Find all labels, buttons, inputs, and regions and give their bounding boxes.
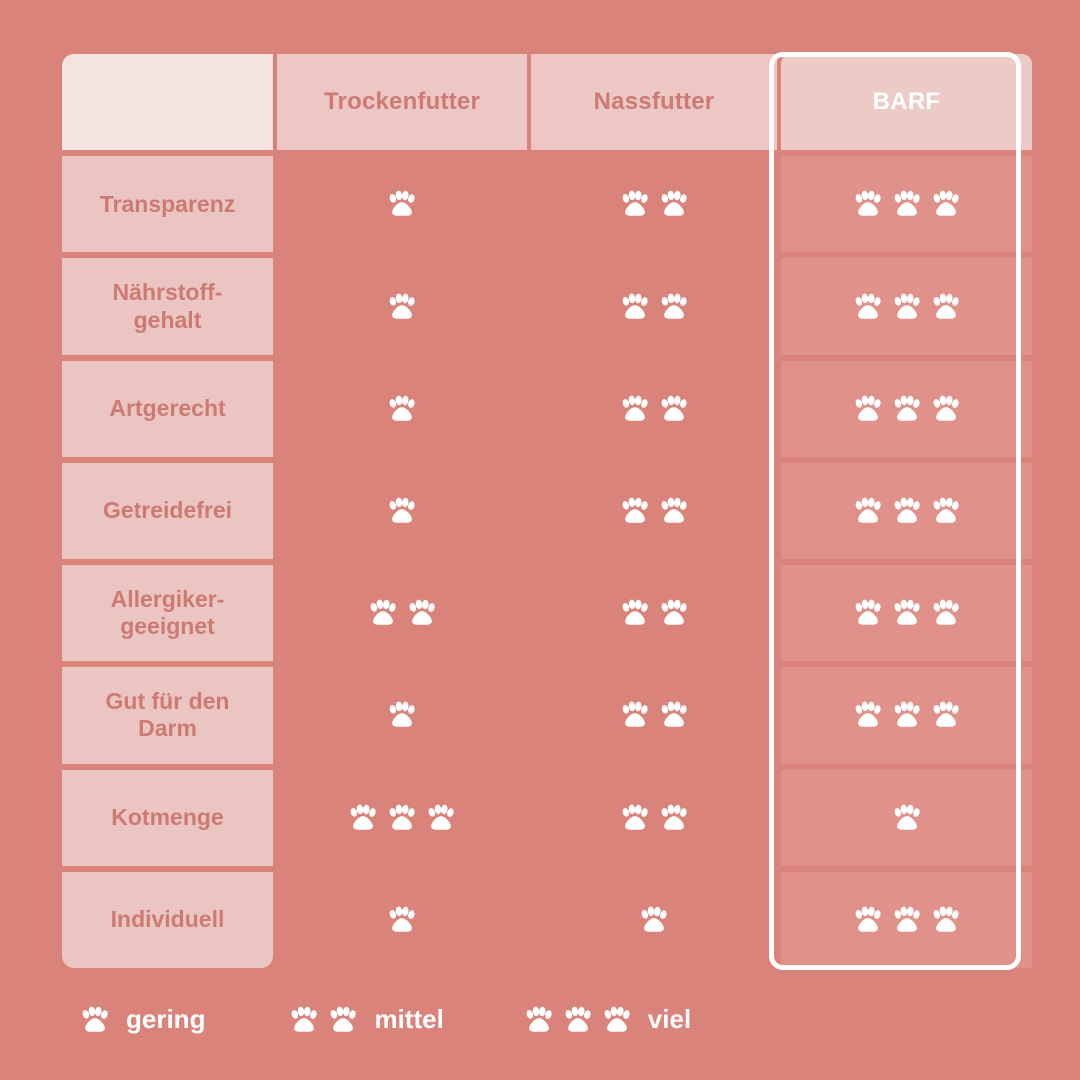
paw-icon xyxy=(931,700,961,730)
paw-icon xyxy=(892,292,922,322)
paw-icon xyxy=(80,1005,110,1035)
rating-cell xyxy=(531,565,777,661)
paw-icon xyxy=(620,292,650,322)
paw-rating-2 xyxy=(620,700,689,730)
rating-cell xyxy=(781,258,1032,354)
paw-icon xyxy=(853,598,883,628)
paw-icon xyxy=(387,496,417,526)
paw-icon xyxy=(853,496,883,526)
paw-icon xyxy=(659,292,689,322)
paw-icon xyxy=(563,1005,593,1035)
paw-icon xyxy=(368,598,398,628)
paw-icon xyxy=(659,394,689,424)
row-label-nährstoffgehalt: Nährstoff-gehalt xyxy=(62,258,273,354)
row-label-artgerecht: Artgerecht xyxy=(62,361,273,457)
paw-rating-1 xyxy=(892,803,922,833)
rating-cell xyxy=(277,565,527,661)
rating-cell xyxy=(781,463,1032,559)
legend: geringmittelviel xyxy=(80,1004,691,1035)
rating-cell xyxy=(277,258,527,354)
comparison-table: TrockenfutterNassfutterBARFTransparenzNä… xyxy=(62,54,1020,968)
paw-icon xyxy=(931,905,961,935)
paw-icon xyxy=(524,1005,554,1035)
paw-rating-1 xyxy=(387,496,417,526)
paw-rating-2 xyxy=(620,496,689,526)
paw-rating-mittel xyxy=(289,1005,358,1035)
paw-icon xyxy=(426,803,456,833)
row-label-transparenz: Transparenz xyxy=(62,156,273,252)
paw-icon xyxy=(620,394,650,424)
paw-rating-gering xyxy=(80,1005,110,1035)
paw-rating-3 xyxy=(348,803,456,833)
paw-icon xyxy=(348,803,378,833)
legend-label: mittel xyxy=(374,1004,443,1035)
row-label-allergikergeeignet: Allergiker-geeignet xyxy=(62,565,273,661)
paw-rating-3 xyxy=(853,189,961,219)
paw-icon xyxy=(659,803,689,833)
rating-cell xyxy=(781,872,1032,968)
comparison-infographic: TrockenfutterNassfutterBARFTransparenzNä… xyxy=(0,0,1080,1080)
rating-cell xyxy=(531,361,777,457)
paw-rating-1 xyxy=(387,905,417,935)
paw-icon xyxy=(387,292,417,322)
column-header-barf[interactable]: BARF xyxy=(781,54,1032,150)
paw-icon xyxy=(931,292,961,322)
paw-rating-3 xyxy=(853,496,961,526)
rating-cell xyxy=(277,872,527,968)
rating-cell xyxy=(531,872,777,968)
rating-cell xyxy=(277,156,527,252)
paw-icon xyxy=(407,598,437,628)
paw-icon xyxy=(892,598,922,628)
paw-icon xyxy=(620,496,650,526)
paw-icon xyxy=(659,189,689,219)
paw-icon xyxy=(853,700,883,730)
row-label-individuell: Individuell xyxy=(62,872,273,968)
paw-rating-2 xyxy=(620,394,689,424)
paw-icon xyxy=(620,700,650,730)
paw-icon xyxy=(659,598,689,628)
paw-icon xyxy=(853,905,883,935)
paw-icon xyxy=(931,496,961,526)
paw-icon xyxy=(892,189,922,219)
column-header-nassfutter[interactable]: Nassfutter xyxy=(531,54,777,150)
paw-rating-1 xyxy=(387,700,417,730)
paw-icon xyxy=(387,394,417,424)
rating-cell xyxy=(531,667,777,763)
paw-rating-2 xyxy=(620,598,689,628)
row-label-getreidefrei: Getreidefrei xyxy=(62,463,273,559)
paw-rating-2 xyxy=(620,189,689,219)
paw-rating-3 xyxy=(853,292,961,322)
row-label-kotmenge: Kotmenge xyxy=(62,770,273,866)
paw-icon xyxy=(387,700,417,730)
paw-rating-1 xyxy=(387,292,417,322)
paw-icon xyxy=(620,803,650,833)
paw-rating-1 xyxy=(387,394,417,424)
row-label-gut für dendarm: Gut für denDarm xyxy=(62,667,273,763)
paw-icon xyxy=(620,189,650,219)
paw-rating-2 xyxy=(620,292,689,322)
paw-rating-2 xyxy=(620,803,689,833)
legend-item-viel: viel xyxy=(524,1004,691,1035)
paw-icon xyxy=(289,1005,319,1035)
rating-cell xyxy=(277,667,527,763)
paw-icon xyxy=(602,1005,632,1035)
paw-icon xyxy=(892,496,922,526)
paw-icon xyxy=(620,598,650,628)
legend-label: gering xyxy=(126,1004,205,1035)
rating-cell xyxy=(531,258,777,354)
rating-cell xyxy=(781,361,1032,457)
legend-item-mittel: mittel xyxy=(289,1004,443,1035)
column-header-trockenfutter[interactable]: Trockenfutter xyxy=(277,54,527,150)
paw-icon xyxy=(892,803,922,833)
rating-cell xyxy=(781,565,1032,661)
legend-item-gering: gering xyxy=(80,1004,205,1035)
rating-cell xyxy=(781,770,1032,866)
paw-icon xyxy=(387,905,417,935)
paw-icon xyxy=(931,394,961,424)
paw-rating-1 xyxy=(387,189,417,219)
paw-icon xyxy=(853,394,883,424)
paw-icon xyxy=(853,189,883,219)
rating-cell xyxy=(781,667,1032,763)
paw-rating-2 xyxy=(368,598,437,628)
paw-icon xyxy=(639,905,669,935)
rating-cell xyxy=(531,463,777,559)
rating-cell xyxy=(531,156,777,252)
paw-icon xyxy=(931,189,961,219)
paw-rating-viel xyxy=(524,1005,632,1035)
paw-icon xyxy=(892,700,922,730)
paw-icon xyxy=(892,394,922,424)
rating-cell xyxy=(781,156,1032,252)
paw-rating-3 xyxy=(853,700,961,730)
paw-rating-3 xyxy=(853,394,961,424)
paw-icon xyxy=(659,700,689,730)
paw-icon xyxy=(387,803,417,833)
paw-icon xyxy=(387,189,417,219)
rating-cell xyxy=(277,361,527,457)
paw-rating-3 xyxy=(853,598,961,628)
paw-rating-1 xyxy=(639,905,669,935)
rating-cell xyxy=(277,463,527,559)
rating-cell xyxy=(277,770,527,866)
paw-rating-3 xyxy=(853,905,961,935)
paw-icon xyxy=(892,905,922,935)
table-corner-cell xyxy=(62,54,273,150)
paw-icon xyxy=(659,496,689,526)
rating-cell xyxy=(531,770,777,866)
paw-icon xyxy=(931,598,961,628)
paw-icon xyxy=(328,1005,358,1035)
paw-icon xyxy=(853,292,883,322)
legend-label: viel xyxy=(648,1004,691,1035)
